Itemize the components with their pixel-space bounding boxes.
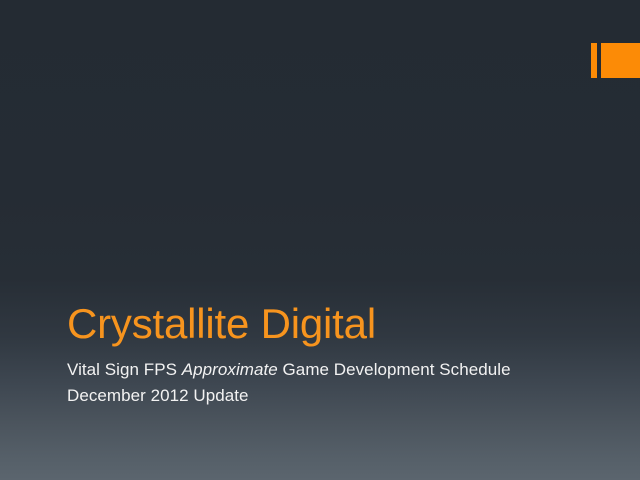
subtitle-line-1-before: Vital Sign FPS — [67, 360, 182, 379]
slide-title: Crystallite Digital — [67, 300, 600, 347]
presentation-title-slide: Crystallite Digital Vital Sign FPS Appro… — [0, 0, 640, 480]
top-right-accent-decoration — [591, 43, 640, 78]
subtitle-line-1-emphasis: Approximate — [182, 360, 278, 379]
title-text-block: Crystallite Digital Vital Sign FPS Appro… — [67, 300, 600, 410]
accent-block-icon — [601, 43, 640, 78]
subtitle-line-2: December 2012 Update — [67, 383, 600, 409]
subtitle-line-1: Vital Sign FPS Approximate Game Developm… — [67, 357, 600, 383]
subtitle-line-1-after: Game Development Schedule — [278, 360, 511, 379]
slide-subtitle: Vital Sign FPS Approximate Game Developm… — [67, 357, 600, 410]
